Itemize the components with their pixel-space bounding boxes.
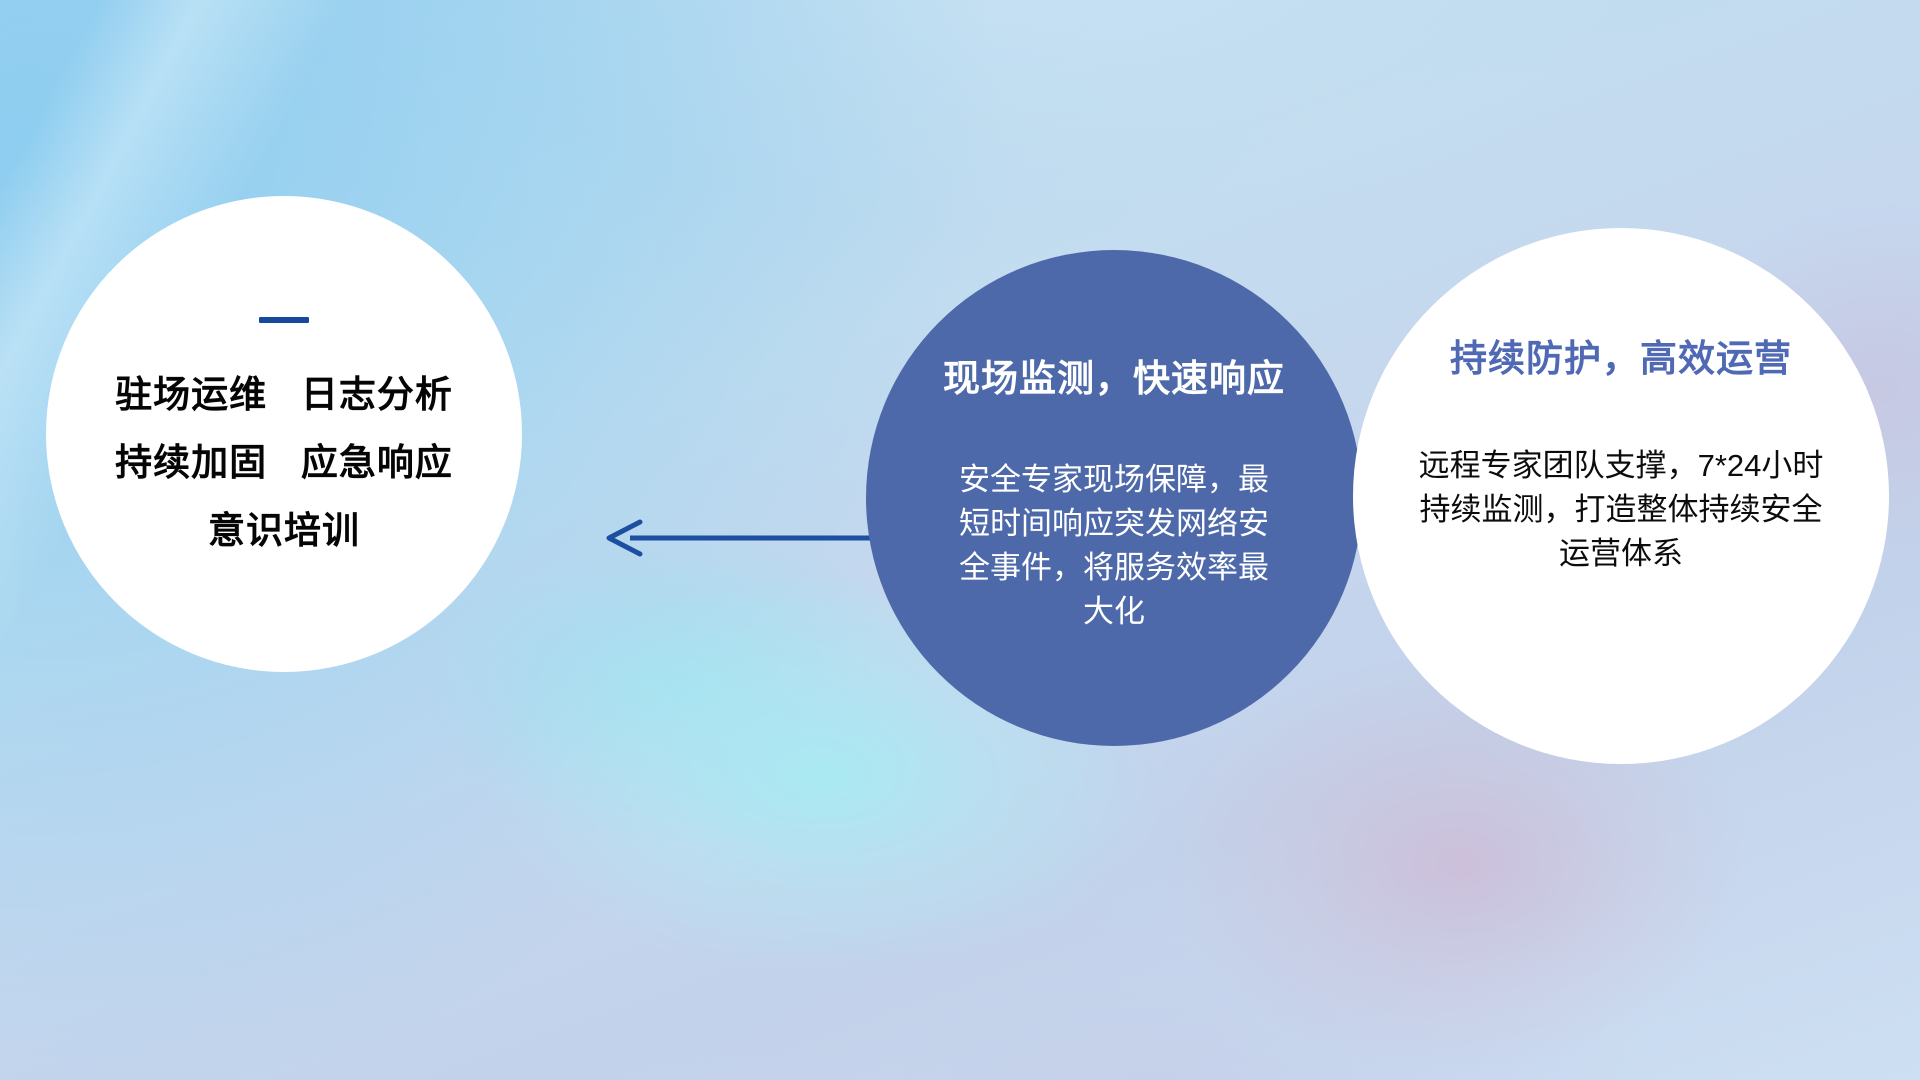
left-circle-divider [259,317,309,323]
left-circle-line-3: 意识培训 [208,511,360,551]
right-circle-body: 远程专家团队支撑，7*24小时持续监测，打造整体持续安全运营体系 [1411,444,1831,576]
flow-arrow-icon [600,516,880,560]
left-circle-keyword-list: 驻场运维 日志分析 持续加固 应急响应 意识培训 [115,375,453,551]
slide-canvas: 驻场运维 日志分析 持续加固 应急响应 意识培训 持续防护，高效运营 远程专家团… [0,0,1920,1080]
left-circle-line-1: 驻场运维 日志分析 [115,375,453,415]
blue-onsite-circle[interactable] [866,250,1362,746]
left-circle-line-2: 持续加固 应急响应 [115,443,453,483]
right-operations-circle[interactable]: 持续防护，高效运营 远程专家团队支撑，7*24小时持续监测，打造整体持续安全运营… [1353,228,1889,764]
left-capability-circle[interactable]: 驻场运维 日志分析 持续加固 应急响应 意识培训 [46,196,522,672]
right-circle-title: 持续防护，高效运营 [1450,328,1792,382]
